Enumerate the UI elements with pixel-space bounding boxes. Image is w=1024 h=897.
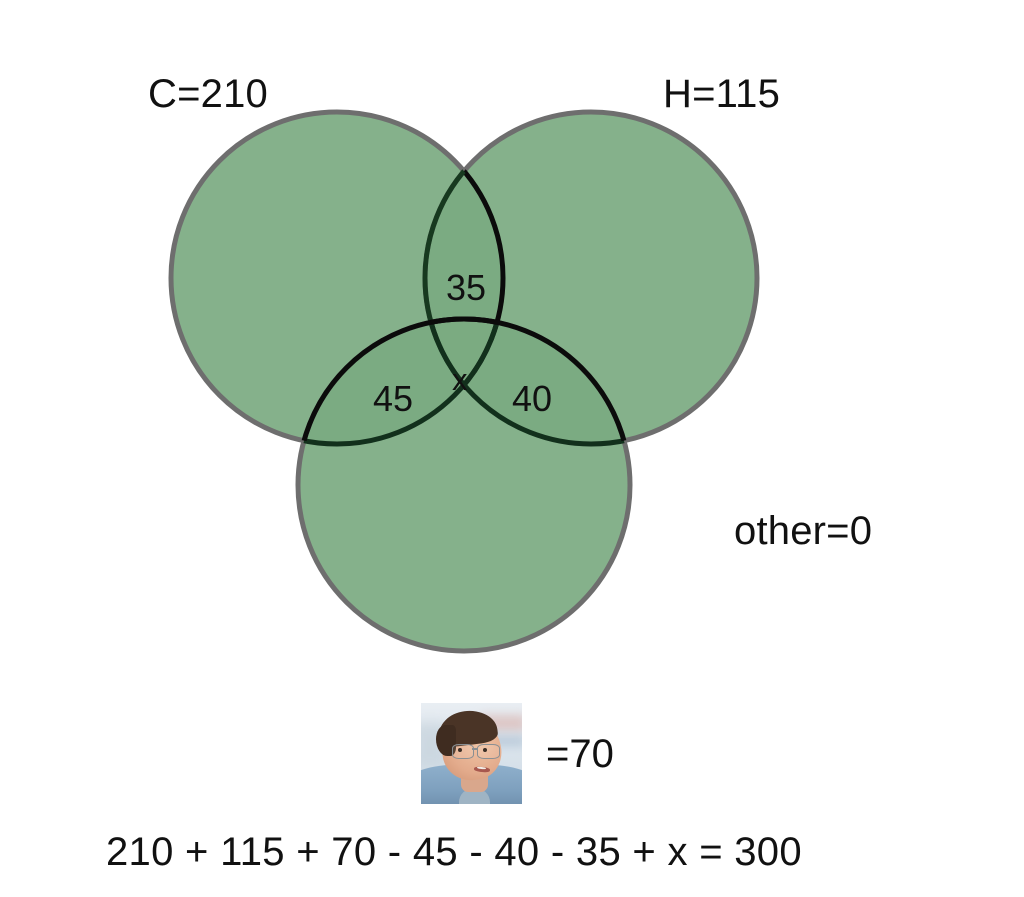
- outside-label-other: other=0: [734, 511, 872, 551]
- region-value-c-and-h: 35: [446, 270, 486, 306]
- region-value-h-and-bottom: 40: [512, 381, 552, 417]
- venn-diagram-page: C=210 H=115 other=0 35 45 40 x =70: [0, 0, 1024, 897]
- inclusion-exclusion-equation: 210 + 115 + 70 - 45 - 40 - 35 + x = 300: [106, 832, 802, 872]
- photo-set-value: =70: [546, 734, 614, 774]
- set-label-h: H=115: [663, 74, 780, 114]
- set-label-c: C=210: [148, 74, 268, 114]
- photo-value-row: =70: [421, 703, 614, 804]
- photo-glasses-bridge: [472, 748, 478, 750]
- photo-glasses-right-lens: [477, 744, 500, 758]
- region-value-c-and-bottom: 45: [373, 381, 413, 417]
- region-value-all-three: x: [452, 364, 468, 395]
- photo-glasses-left-lens: [452, 744, 474, 758]
- person-photo-thumbnail: [421, 703, 522, 804]
